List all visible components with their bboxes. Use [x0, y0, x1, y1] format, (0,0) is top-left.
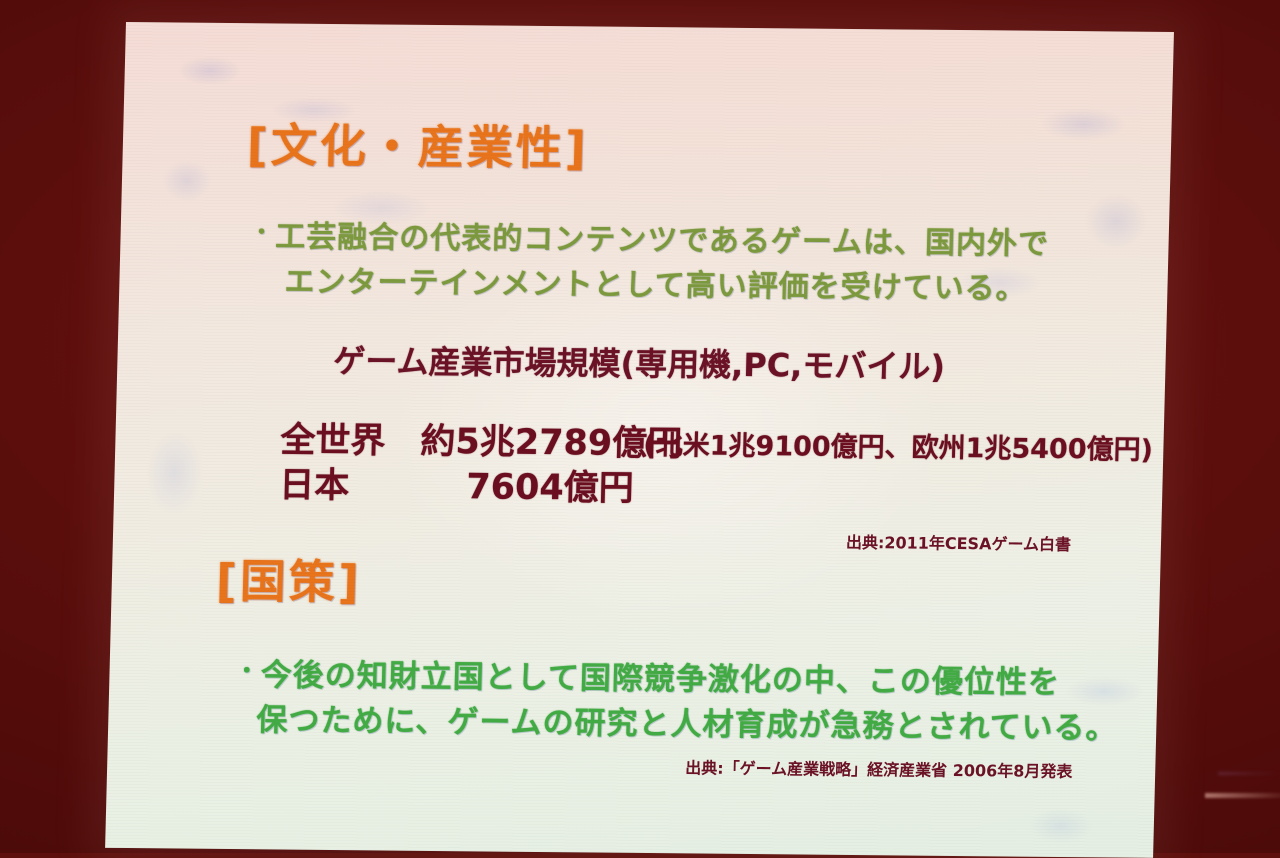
market-row-region-1: 日本 — [279, 456, 350, 508]
bullet-culture-line2: エンターテインメントとして高い評価を受けている。 — [284, 257, 1027, 308]
projection-screen: [文化・産業性] ・工芸融合の代表的コンテンツであるゲームは、国内外で エンター… — [105, 22, 1174, 858]
market-row-detail-0: (北米1兆9100億円、欧州1兆5400億円) — [643, 423, 1154, 467]
market-row-value-1: 7604億円 — [466, 458, 635, 511]
source-citation-meti: 出典:「ゲーム産業戦略」経済産業省 2006年8月発表 — [685, 754, 1073, 782]
bullet-culture-line1: ・工芸融合の代表的コンテンツであるゲームは、国内外で — [250, 211, 1049, 263]
wall-light-streak — [1205, 793, 1280, 798]
bullet-policy-line1-text: 今後の知財立国として国際競争激化の中、この優位性を — [260, 657, 1060, 701]
section-heading-culture-industry: [文化・産業性] — [246, 109, 590, 178]
source-citation-cesa: 出典:2011年CESAゲーム白書 — [846, 529, 1072, 555]
presentation-slide: [文化・産業性] ・工芸融合の代表的コンテンツであるゲームは、国内外で エンター… — [105, 22, 1174, 858]
slide-content: [文化・産業性] ・工芸融合の代表的コンテンツであるゲームは、国内外で エンター… — [105, 22, 1174, 858]
market-size-title: ゲーム産業市場規模(専用機,PC,モバイル) — [333, 336, 946, 388]
bullet-marker: ・ — [235, 658, 259, 684]
section-heading-national-policy: [国策] — [215, 545, 363, 612]
bullet-policy-line1: ・今後の知財立国として国際競争激化の中、この優位性を — [235, 649, 1060, 702]
bullet-policy-line2: 保つために、ゲームの研究と人材育成が急務とされている。 — [256, 694, 1118, 747]
bullet-marker: ・ — [250, 220, 273, 245]
wall-light-streak-secondary — [1218, 772, 1280, 775]
bullet-culture-line1-text: 工芸融合の代表的コンテンツであるゲームは、国内外で — [275, 219, 1050, 261]
